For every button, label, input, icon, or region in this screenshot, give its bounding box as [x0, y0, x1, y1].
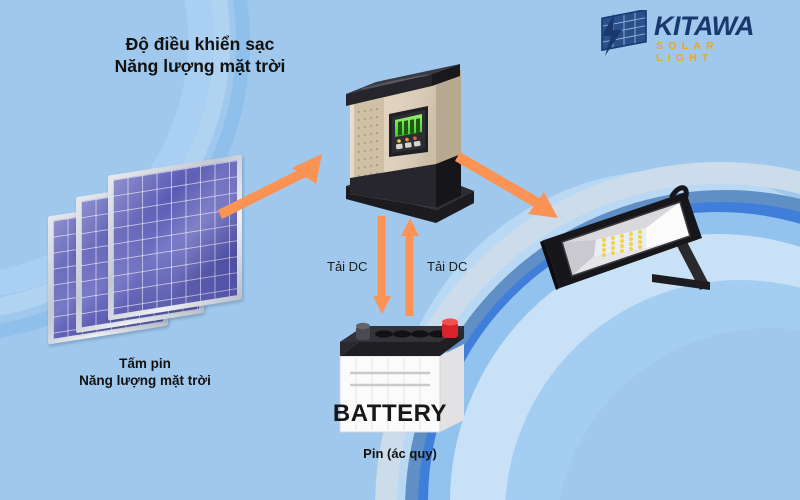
charge-controller-icon: [336, 58, 474, 228]
page-title-line1: Độ điều khiển sạc: [126, 34, 275, 54]
arrow-battery-to-controller: [400, 216, 420, 316]
arrow-controller-to-battery: [372, 216, 392, 316]
car-battery-icon: BATTERY: [322, 318, 482, 440]
battery-body-text: BATTERY: [333, 400, 447, 427]
logo-brand-text: KITAWA: [654, 11, 754, 42]
solar-panel-label-line1: Tấm pin: [119, 356, 171, 371]
solar-panel-bolt-icon: [598, 10, 652, 58]
flow-label-controller-to-battery: Tải DC: [327, 259, 367, 274]
solar-panel-array-icon: [48, 165, 238, 340]
arrow-panel-to-controller: [218, 150, 333, 220]
page-title-line2: Năng lượng mặt trời: [60, 55, 340, 77]
brand-logo: KITAWA SOLAR LIGHT: [598, 10, 784, 60]
solar-panel-label-line2: Năng lượng mặt trời: [30, 372, 260, 389]
flow-label-battery-to-controller: Tải DC: [427, 259, 467, 274]
solar-panel-label: Tấm pin Năng lượng mặt trời: [30, 355, 260, 390]
page-title: Độ điều khiển sạc Năng lượng mặt trời: [60, 33, 340, 78]
arrow-controller-to-light: [458, 152, 568, 224]
logo-tagline-text: SOLAR LIGHT: [656, 40, 784, 64]
battery-label: Pin (ác quy): [320, 446, 480, 463]
diagram-canvas: KITAWA SOLAR LIGHT Độ điều khiển sạc Năn…: [0, 0, 800, 500]
